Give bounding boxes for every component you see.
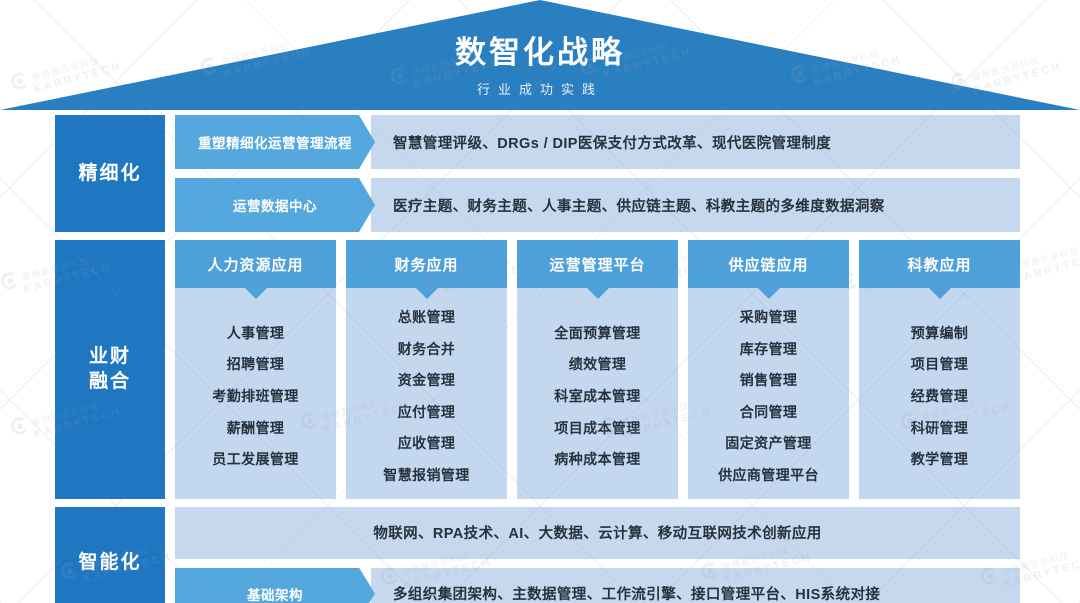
- list-item[interactable]: 考勤排班管理: [212, 383, 298, 410]
- list-item[interactable]: 病种成本管理: [554, 446, 640, 473]
- list-item[interactable]: 销售管理: [740, 367, 798, 394]
- list-item[interactable]: 薪酬管理: [227, 415, 285, 442]
- band-body-intelligence: 物联网、RPA技术、AI、大数据、云计算、移动互联网技术创新应用 基础架构 多组…: [175, 507, 1020, 603]
- row-item[interactable]: 基础架构 多组织集团架构、主数据管理、工作流引擎、接口管理平台、HIS系统对接: [175, 568, 1020, 603]
- column-body: 人事管理 招聘管理 考勤排班管理 薪酬管理 员工发展管理: [175, 288, 336, 499]
- row-item[interactable]: 物联网、RPA技术、AI、大数据、云计算、移动互联网技术创新应用: [175, 507, 1020, 559]
- row-panel-text: 多组织集团架构、主数据管理、工作流引擎、接口管理平台、HIS系统对接: [371, 568, 1020, 603]
- list-item[interactable]: 合同管理: [740, 399, 798, 426]
- list-item[interactable]: 科研管理: [911, 415, 969, 442]
- column-header: 财务应用: [346, 240, 507, 288]
- list-item[interactable]: 总账管理: [398, 304, 456, 331]
- list-item[interactable]: 经费管理: [911, 383, 969, 410]
- page-title: 数智化战略: [455, 36, 625, 70]
- list-item[interactable]: 智慧报销管理: [383, 462, 469, 489]
- row-chip-label: 重塑精细化运营管理流程: [175, 115, 375, 169]
- column-body: 预算编制 项目管理 经费管理 科研管理 教学管理: [859, 288, 1020, 499]
- column-body: 全面预算管理 绩效管理 科室成本管理 项目成本管理 病种成本管理: [517, 288, 678, 499]
- list-item[interactable]: 固定资产管理: [725, 430, 811, 457]
- list-item[interactable]: 应付管理: [398, 399, 456, 426]
- band-refinement: 精细化 重塑精细化运营管理流程 智慧管理评级、DRGs / DIP医保支付方式改…: [55, 115, 1020, 232]
- list-item[interactable]: 预算编制: [911, 320, 969, 347]
- list-item[interactable]: 教学管理: [911, 446, 969, 473]
- body-content: 精细化 重塑精细化运营管理流程 智慧管理评级、DRGs / DIP医保支付方式改…: [55, 115, 1020, 595]
- column-header: 人力资源应用: [175, 240, 336, 288]
- row-item[interactable]: 运营数据中心 医疗主题、财务主题、人事主题、供应链主题、科教主题的多维度数据洞察: [175, 178, 1020, 232]
- karrytech-logo-icon: [9, 415, 30, 436]
- list-item[interactable]: 供应商管理平台: [718, 462, 819, 489]
- infographic-page: 数智化战略 行业成功实践 精细化 重塑精细化运营管理流程 智慧管理评级、DRGs…: [0, 0, 1080, 603]
- column-header: 运营管理平台: [517, 240, 678, 288]
- column-hr[interactable]: 人力资源应用 人事管理 招聘管理 考勤排班管理 薪酬管理 员工发展管理: [175, 240, 336, 499]
- list-item[interactable]: 全面预算管理: [554, 320, 640, 347]
- band-label-business-finance: 业财 融合: [55, 240, 165, 499]
- column-research-education[interactable]: 科教应用 预算编制 项目管理 经费管理 科研管理 教学管理: [859, 240, 1020, 499]
- row-chip-label: 基础架构: [175, 568, 375, 603]
- row-panel-text: 智慧管理评级、DRGs / DIP医保支付方式改革、现代医院管理制度: [371, 115, 1020, 169]
- column-header: 科教应用: [859, 240, 1020, 288]
- karrytech-logo-icon: [0, 270, 20, 291]
- band-body-refinement: 重塑精细化运营管理流程 智慧管理评级、DRGs / DIP医保支付方式改革、现代…: [175, 115, 1020, 232]
- column-operations[interactable]: 运营管理平台 全面预算管理 绩效管理 科室成本管理 项目成本管理 病种成本管理: [517, 240, 678, 499]
- list-item[interactable]: 财务合并: [398, 336, 456, 363]
- list-item[interactable]: 员工发展管理: [212, 446, 298, 473]
- row-panel-text: 物联网、RPA技术、AI、大数据、云计算、移动互联网技术创新应用: [175, 507, 1020, 559]
- page-subtitle: 行业成功实践: [477, 79, 603, 98]
- list-item[interactable]: 项目管理: [911, 351, 969, 378]
- list-item[interactable]: 人事管理: [227, 320, 285, 347]
- list-item[interactable]: 采购管理: [740, 304, 798, 331]
- band-business-finance: 业财 融合 人力资源应用 人事管理 招聘管理 考勤排班管理 薪酬管理 员工发展管…: [55, 240, 1020, 499]
- band-label-refinement: 精细化: [55, 115, 165, 232]
- header: 数智化战略 行业成功实践: [0, 0, 1080, 110]
- list-item[interactable]: 科室成本管理: [554, 383, 640, 410]
- application-columns: 人力资源应用 人事管理 招聘管理 考勤排班管理 薪酬管理 员工发展管理 财务应用…: [175, 240, 1020, 499]
- column-supply-chain[interactable]: 供应链应用 采购管理 库存管理 销售管理 合同管理 固定资产管理 供应商管理平台: [688, 240, 849, 499]
- list-item[interactable]: 资金管理: [398, 367, 456, 394]
- row-chip-label: 运营数据中心: [175, 178, 375, 232]
- band-intelligence: 智能化 物联网、RPA技术、AI、大数据、云计算、移动互联网技术创新应用 基础架…: [55, 507, 1020, 603]
- band-label-intelligence: 智能化: [55, 507, 165, 603]
- column-body: 采购管理 库存管理 销售管理 合同管理 固定资产管理 供应商管理平台: [688, 288, 849, 499]
- list-item[interactable]: 项目成本管理: [554, 415, 640, 442]
- list-item[interactable]: 招聘管理: [227, 351, 285, 378]
- column-header: 供应链应用: [688, 240, 849, 288]
- row-panel-text: 医疗主题、财务主题、人事主题、供应链主题、科教主题的多维度数据洞察: [371, 178, 1020, 232]
- row-item[interactable]: 重塑精细化运营管理流程 智慧管理评级、DRGs / DIP医保支付方式改革、现代…: [175, 115, 1020, 169]
- column-body: 总账管理 财务合并 资金管理 应付管理 应收管理 智慧报销管理: [346, 288, 507, 499]
- column-finance[interactable]: 财务应用 总账管理 财务合并 资金管理 应付管理 应收管理 智慧报销管理: [346, 240, 507, 499]
- list-item[interactable]: 库存管理: [740, 336, 798, 363]
- list-item[interactable]: 应收管理: [398, 430, 456, 457]
- list-item[interactable]: 绩效管理: [569, 351, 627, 378]
